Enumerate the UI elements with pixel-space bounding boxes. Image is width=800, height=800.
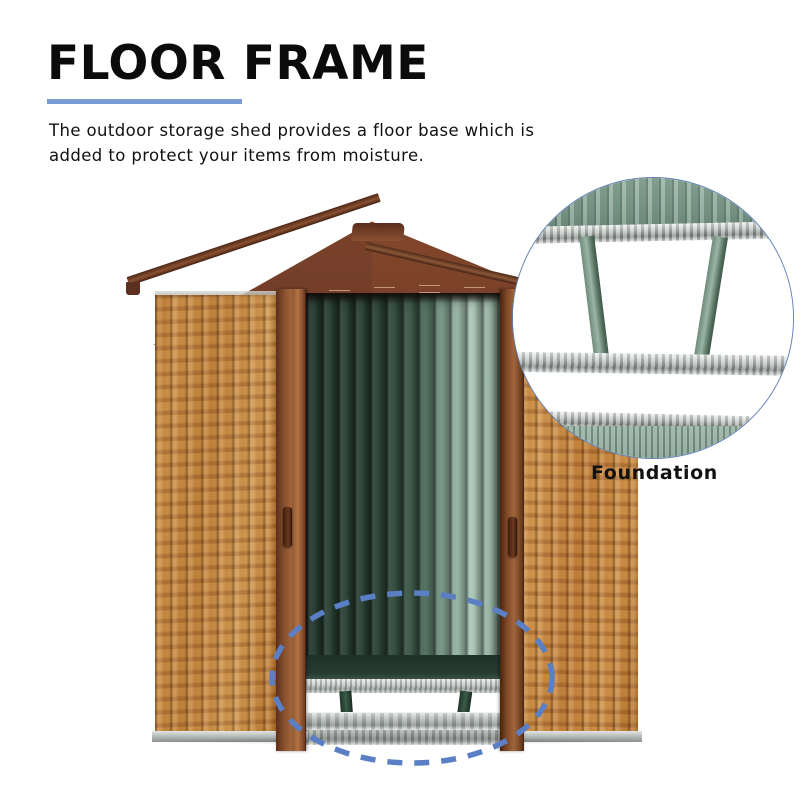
left-wall-panel	[155, 295, 279, 735]
page-title: FLOOR FRAME	[47, 38, 429, 90]
roof-ridge-cap	[351, 223, 405, 241]
door-handle-icon[interactable]	[283, 507, 292, 547]
product-photo: Foundation	[0, 185, 800, 800]
callout-lower-panel	[512, 426, 794, 459]
roof-eave-tip	[126, 282, 140, 295]
header-block: FLOOR FRAME The outdoor storage shed pro…	[0, 0, 800, 185]
title-divider	[47, 99, 242, 104]
door-handle-icon[interactable]	[508, 517, 517, 557]
door-lintel-shadow	[305, 293, 502, 303]
foundation-label: Foundation	[591, 462, 718, 484]
highlight-ellipse-stroke	[272, 593, 552, 763]
page-subtitle: The outdoor storage shed provides a floo…	[49, 118, 749, 168]
floor-frame-highlight-ellipse	[262, 583, 562, 773]
foundation-callout-circle	[512, 177, 794, 459]
